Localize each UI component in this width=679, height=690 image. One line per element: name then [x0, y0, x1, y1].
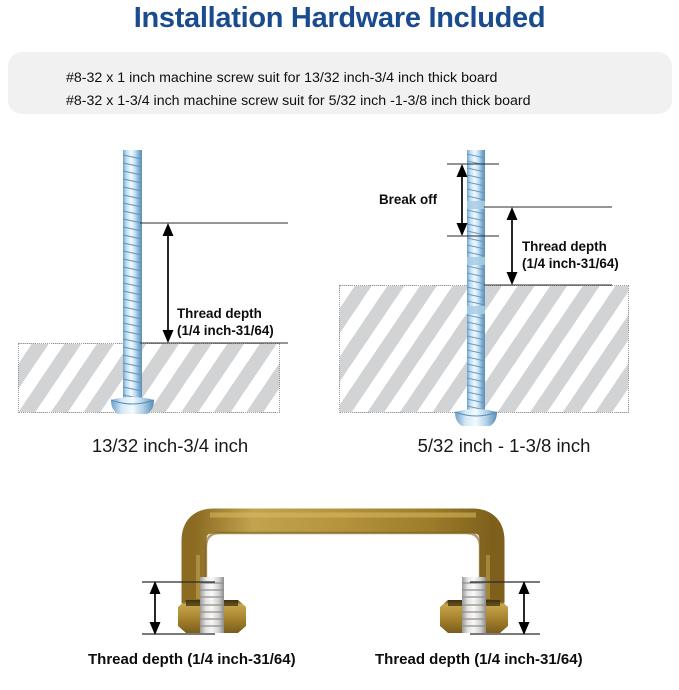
label-thread-depth-right-line2: (1/4 inch-31/64)	[522, 255, 619, 272]
label-handle-left-line2: (1/4 inch-31/64)	[187, 651, 295, 668]
spec-box: #8-32 x 1 inch machine screw suit for 13…	[8, 52, 672, 114]
diagram-short-screw: Thread depth (1/4 inch-31/64) 13/32 inch…	[0, 150, 340, 470]
label-handle-thread-depth-left: Thread depth (1/4 inch-31/64)	[88, 650, 288, 670]
label-thread-depth-left-line1: Thread depth	[177, 306, 262, 321]
label-thread-depth-left-line2: (1/4 inch-31/64)	[177, 322, 274, 339]
spec-line-long-screw: #8-32 x 1-3/4 inch machine screw suit fo…	[66, 93, 530, 109]
label-thread-depth-right-line1: Thread depth	[522, 239, 607, 254]
label-handle-right-line1: Thread depth	[375, 651, 470, 668]
diagram-long-screw: Break off Thread depth (1/4 inch-31/64) …	[339, 150, 679, 470]
label-break-off: Break off	[379, 191, 437, 208]
label-thread-depth-left: Thread depth (1/4 inch-31/64)	[177, 305, 274, 339]
diagram-handle: Thread depth (1/4 inch-31/64) Thread dep…	[0, 495, 679, 690]
caption-right: 5/32 inch - 1-3/8 inch	[339, 435, 669, 457]
label-handle-right-line2: (1/4 inch-31/64)	[474, 651, 582, 668]
label-handle-left-line1: Thread depth	[88, 651, 183, 668]
label-handle-thread-depth-right: Thread depth (1/4 inch-31/64)	[375, 650, 575, 670]
spec-line-short-screw: #8-32 x 1 inch machine screw suit for 13…	[66, 70, 497, 86]
caption-left: 13/32 inch-3/4 inch	[0, 435, 340, 457]
page-title: Installation Hardware Included	[0, 0, 679, 36]
label-thread-depth-right: Thread depth (1/4 inch-31/64)	[522, 238, 619, 272]
